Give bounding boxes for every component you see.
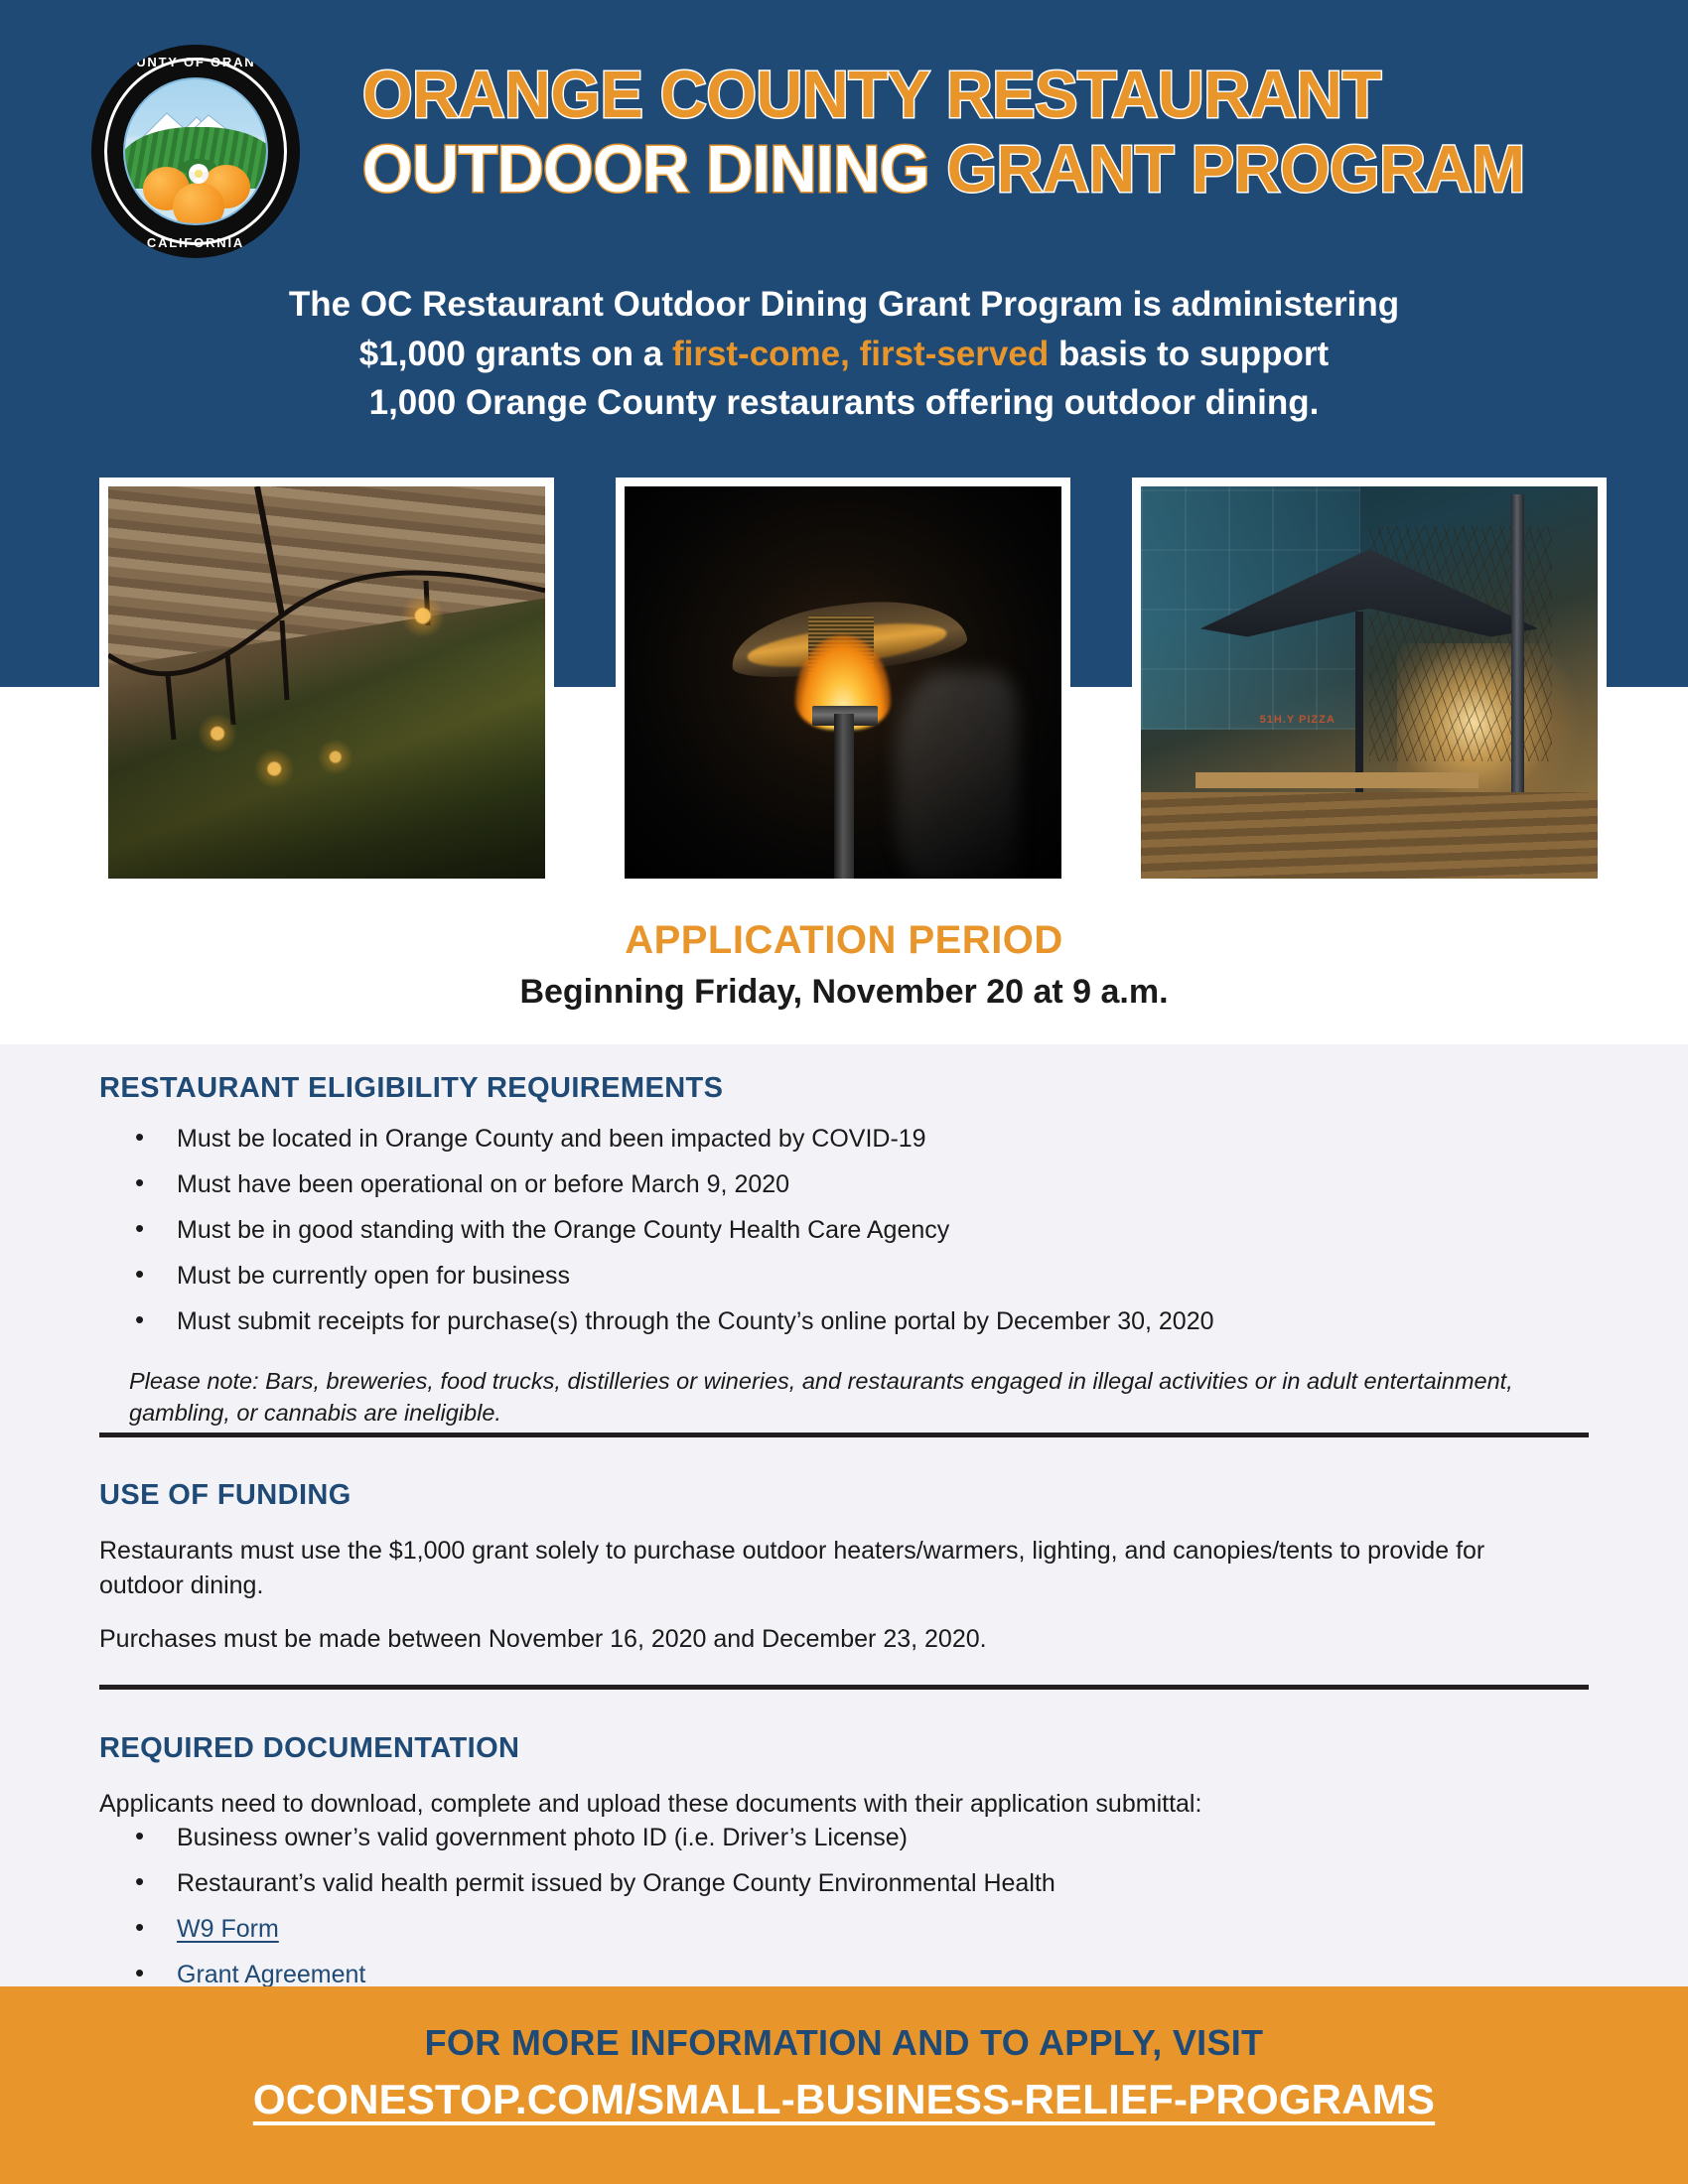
heater-pole — [834, 714, 854, 879]
eligibility-list: Must be located in Orange County and bee… — [99, 1127, 1589, 1355]
orange-fruit-icon — [173, 183, 224, 225]
list-item: Must have been operational on or before … — [135, 1172, 1589, 1218]
use-of-funding-title: USE OF FUNDING — [99, 1479, 1589, 1512]
seal-icon: COUNTY OF ORANGE CALIFORNIA — [91, 45, 300, 258]
list-item: Restaurant’s valid health permit issued … — [135, 1871, 1589, 1917]
section-divider — [99, 1433, 1589, 1437]
use-of-funding-paragraph-1: Restaurants must use the $1,000 grant so… — [99, 1534, 1509, 1602]
grant-agreement-link[interactable]: Grant Agreement — [177, 1961, 365, 1988]
eligibility-note: Please note: Bars, breweries, food truck… — [129, 1365, 1589, 1430]
footer-cta-text: FOR MORE INFORMATION AND TO APPLY, VISIT — [0, 2022, 1688, 2064]
seal-top-text: COUNTY OF ORANGE — [91, 55, 300, 69]
bare-tree — [1369, 526, 1552, 761]
photo-patio-heater — [616, 478, 1070, 887]
title-line-1: ORANGE COUNTY RESTAURANT — [362, 60, 1605, 130]
application-period-subtitle: Beginning Friday, November 20 at 9 a.m. — [0, 973, 1688, 1012]
subhead-line-1: The OC Restaurant Outdoor Dining Grant P… — [0, 280, 1688, 330]
picnic-table — [1196, 772, 1478, 788]
list-item: Business owner’s valid government photo … — [135, 1826, 1589, 1871]
foreground-blur — [896, 671, 1018, 879]
subhead-line-2a: $1,000 grants on a — [359, 335, 672, 373]
string-light-wire-icon — [108, 486, 545, 879]
list-item: Must be in good standing with the Orange… — [135, 1218, 1589, 1264]
list-item: Must be located in Orange County and bee… — [135, 1127, 1589, 1172]
photo-outdoor-dining-image: 51H.Y PIZZA — [1141, 486, 1598, 879]
use-of-funding-paragraph-2: Purchases must be made between November … — [99, 1622, 1509, 1657]
eligibility-section: RESTAURANT ELIGIBILITY REQUIREMENTS Must… — [99, 1072, 1589, 1430]
page-title: ORANGE COUNTY RESTAURANT OUTDOOR DINING … — [362, 60, 1643, 208]
subhead-line-3: 1,000 Orange County restaurants offering… — [0, 378, 1688, 428]
w9-form-link[interactable]: W9 Form — [177, 1915, 279, 1943]
required-documentation-list: Business owner’s valid government photo … — [99, 1826, 1589, 2008]
use-of-funding-section: USE OF FUNDING Restaurants must use the … — [99, 1479, 1589, 1677]
photo-string-lights-image — [108, 486, 545, 879]
eligibility-title: RESTAURANT ELIGIBILITY REQUIREMENTS — [99, 1072, 1589, 1105]
subhead-line-2c: basis to support — [1049, 335, 1329, 373]
photo-string-lights — [99, 478, 554, 887]
list-item: Must submit receipts for purchase(s) thr… — [135, 1309, 1589, 1355]
seal-bottom-text: CALIFORNIA — [91, 235, 300, 250]
list-item: Must be currently open for business — [135, 1264, 1589, 1309]
photo-patio-heater-image — [625, 486, 1061, 879]
program-description: The OC Restaurant Outdoor Dining Grant P… — [0, 280, 1688, 428]
required-documentation-intro: Applicants need to download, complete an… — [99, 1787, 1509, 1822]
first-come-first-served-highlight: first-come, first-served — [672, 335, 1049, 373]
title-line-2: OUTDOOR DINING GRANT PROGRAM — [362, 134, 1605, 205]
wooden-deck — [1141, 792, 1598, 879]
county-of-orange-seal-logo: COUNTY OF ORANGE CALIFORNIA — [91, 45, 300, 258]
required-documentation-title: REQUIRED DOCUMENTATION — [99, 1732, 1589, 1765]
section-divider — [99, 1685, 1589, 1690]
footer-cta-banner: FOR MORE INFORMATION AND TO APPLY, VISIT… — [0, 1986, 1688, 2184]
footer-website-link[interactable]: OCONESTOP.COM/SMALL-BUSINESS-RELIEF-PROG… — [0, 2076, 1688, 2123]
subhead-line-2: $1,000 grants on a first-come, first-ser… — [0, 330, 1688, 379]
title-line-2-orange: GRANT PROGRAM — [946, 132, 1524, 206]
restaurant-neon-sign: 51H.Y PIZZA — [1260, 714, 1336, 726]
photo-outdoor-dining: 51H.Y PIZZA — [1132, 478, 1607, 887]
orange-blossom-icon — [189, 164, 209, 184]
application-period-section: APPLICATION PERIOD Beginning Friday, Nov… — [0, 918, 1688, 1012]
title-line-2-white: OUTDOOR DINING — [362, 132, 946, 206]
required-documentation-section: REQUIRED DOCUMENTATION Applicants need t… — [99, 1732, 1589, 2008]
seal-scene — [123, 77, 268, 225]
application-period-title: APPLICATION PERIOD — [0, 918, 1688, 963]
list-item: W9 Form — [135, 1917, 1589, 1963]
